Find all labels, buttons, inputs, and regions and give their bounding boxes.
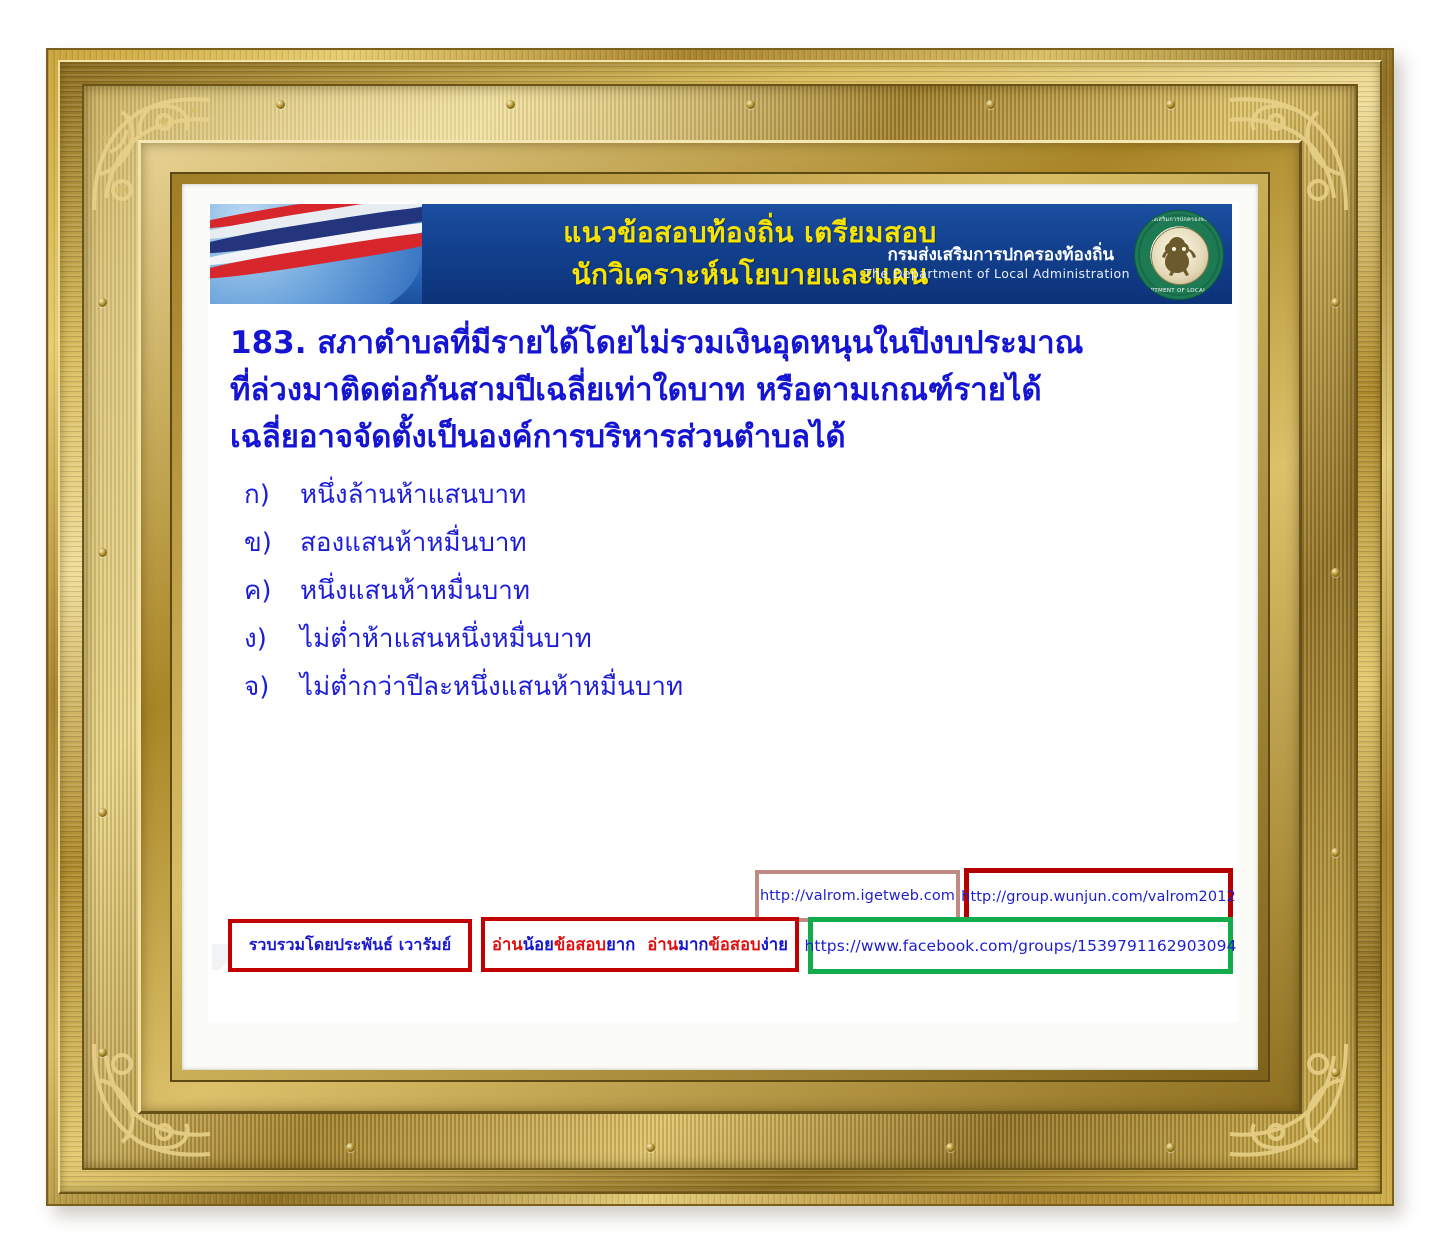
slogan-word-7: ข้อสอบ	[709, 932, 761, 958]
thai-flag-icon	[210, 204, 422, 304]
slogan-word-6: มาก	[678, 932, 708, 958]
choice-label: ไม่ต่ำกว่าปีละหนึ่งแสนห้าหมื่นบาท	[300, 663, 683, 711]
question-body: 183. สภาตำบลที่มีรายได้โดยไม่รวมเงินอุดห…	[208, 304, 1238, 711]
corner-ornament-icon	[1214, 1026, 1364, 1176]
corner-ornament-icon	[76, 78, 226, 228]
frame-stud	[1331, 1068, 1340, 1077]
department-name-english: The Department of Local Administration	[864, 266, 1114, 282]
slogan-word-2: น้อย	[523, 932, 554, 958]
frame-stud	[1166, 1143, 1175, 1152]
choice-label: หนึ่งแสนห้าหมื่นบาท	[300, 567, 530, 615]
choice-list: ก) หนึ่งล้านห้าแสนบาท ข) สองแสนห้าหมื่นบ…	[230, 471, 1228, 711]
department-name-thai: กรมส่งเสริมการปกครองท้องถิ่น	[864, 244, 1114, 266]
frame-stud	[98, 298, 107, 307]
link-box-facebook[interactable]: https://www.facebook.com/groups/15397911…	[808, 917, 1233, 974]
frame-stud	[98, 808, 107, 817]
choice-label: สองแสนห้าหมื่นบาท	[300, 519, 527, 567]
frame-stud	[646, 1143, 655, 1152]
choice-option-cho[interactable]: จ) ไม่ต่ำกว่าปีละหนึ่งแสนห้าหมื่นบาท	[244, 663, 1228, 711]
slogan-word-3: ข้อสอบ	[554, 932, 606, 958]
question-line-1: 183. สภาตำบลที่มีรายได้โดยไม่รวมเงินอุดห…	[230, 320, 1228, 367]
link-box-igetweb[interactable]: http://valrom.igetweb.com	[755, 870, 960, 922]
frame-stud	[1331, 298, 1340, 307]
slogan-word-8: ง่าย	[761, 932, 788, 958]
choice-key: ง)	[244, 615, 300, 663]
frame-stud	[346, 1143, 355, 1152]
frame-stud	[946, 1143, 955, 1152]
choice-label: ไม่ต่ำห้าแสนหนึ่งหมื่นบาท	[300, 615, 592, 663]
department-name-group: กรมส่งเสริมการปกครองท้องถิ่น The Departm…	[864, 244, 1114, 282]
choice-label: หนึ่งล้านห้าแสนบาท	[300, 471, 526, 519]
choice-option-kho2[interactable]: ค) หนึ่งแสนห้าหมื่นบาท	[244, 567, 1228, 615]
slogan-word-5: อ่าน	[647, 932, 678, 958]
frame-stud	[746, 100, 755, 109]
slogan-word-4: ยาก	[606, 932, 635, 958]
slogan-word-1: อ่าน	[492, 932, 523, 958]
frame-stud	[986, 100, 995, 109]
question-line-3: เฉลี่ยอาจจัดตั้งเป็นองค์การบริหารส่วนตำบ…	[230, 414, 1228, 461]
choice-key: ค)	[244, 567, 300, 615]
department-seal-icon: กรมส่งเสริมการปกครองท้องถิ่น DEPARTMENT …	[1134, 210, 1224, 300]
author-credit-box: รวบรวมโดยประพันธ์ เวารัมย์	[228, 919, 472, 972]
choice-option-kho[interactable]: ข) สองแสนห้าหมื่นบาท	[244, 519, 1228, 567]
frame-stud	[1331, 568, 1340, 577]
frame-stud	[1331, 848, 1340, 857]
choice-key: จ)	[244, 663, 300, 711]
frame-stud	[276, 100, 285, 109]
question-line-2: ที่ล่วงมาติดต่อกันสามปีเฉลี่ยเท่าใดบาท ห…	[230, 367, 1228, 414]
choice-option-ka[interactable]: ก) หนึ่งล้านห้าแสนบาท	[244, 471, 1228, 519]
slide-content: แนวข้อสอบท้องถิ่น เตรียมสอบ นักวิเคราะห์…	[208, 202, 1238, 1022]
choice-option-ngo[interactable]: ง) ไม่ต่ำห้าแสนหนึ่งหมื่นบาท	[244, 615, 1228, 663]
frame-stud	[98, 1048, 107, 1057]
frame-stud	[1166, 100, 1175, 109]
slogan-box: อ่านน้อยข้อสอบยากอ่านมากข้อสอบง่าย	[481, 917, 799, 972]
choice-key: ข)	[244, 519, 300, 567]
lion-emblem-icon	[1155, 229, 1203, 281]
seal-text-bottom: DEPARTMENT OF LOCAL ADMINISTRATION	[1135, 288, 1223, 294]
header-banner: แนวข้อสอบท้องถิ่น เตรียมสอบ นักวิเคราะห์…	[210, 204, 1232, 304]
frame-stud	[98, 548, 107, 557]
choice-key: ก)	[244, 471, 300, 519]
frame-stud	[506, 100, 515, 109]
seal-text-top: กรมส่งเสริมการปกครองท้องถิ่น	[1135, 216, 1223, 224]
